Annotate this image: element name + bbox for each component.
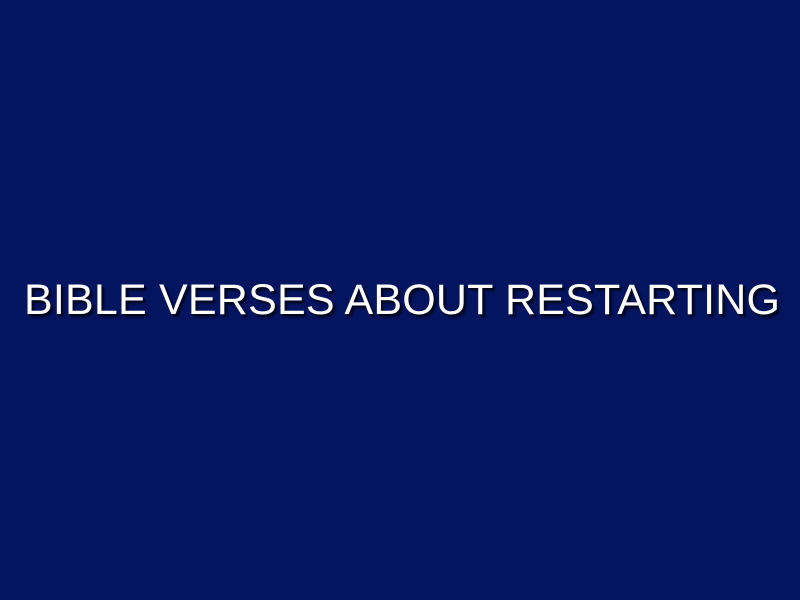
page-title: BIBLE VERSES ABOUT RESTARTING xyxy=(24,276,776,324)
title-card-banner: BIBLE VERSES ABOUT RESTARTING xyxy=(0,0,800,600)
banner-content: BIBLE VERSES ABOUT RESTARTING xyxy=(0,276,800,324)
